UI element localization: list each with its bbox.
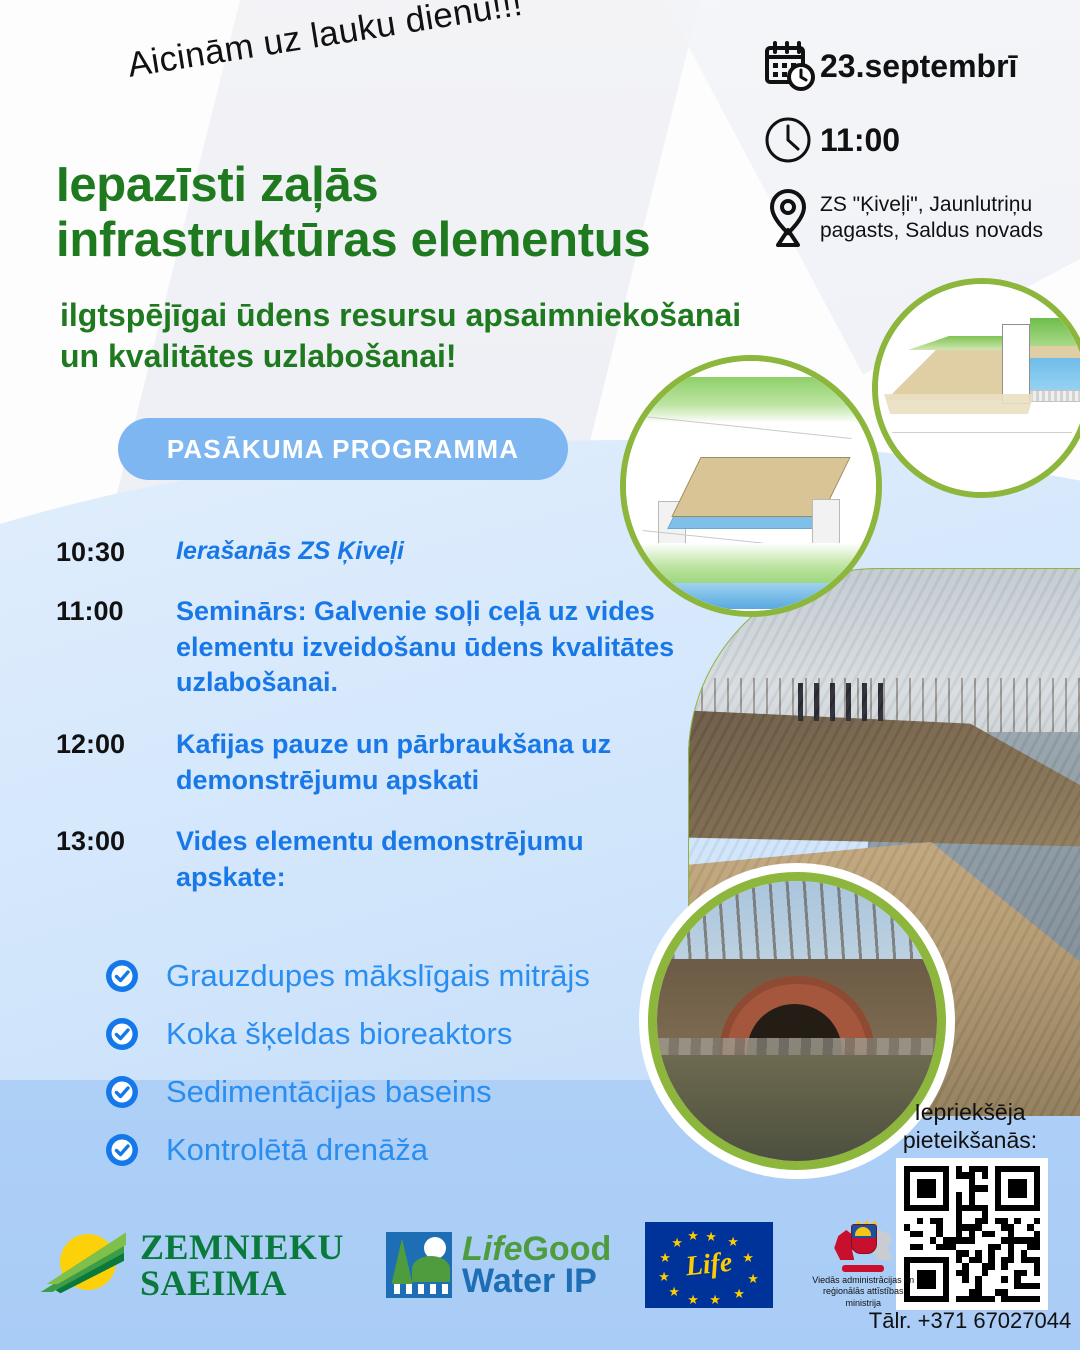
eu-star: ★ (687, 1229, 699, 1242)
ministry-line2: reģionālās attīstības (823, 1286, 904, 1296)
programme-text: Ierašanās ZS Ķiveļi (176, 535, 676, 568)
list-item-label: Grauzdupes mākslīgais mitrājs (166, 959, 590, 993)
crest-base (842, 1265, 884, 1272)
eu-star: ★ (705, 1230, 717, 1243)
page-subtitle-line2: un kvalitātes uzlabošanai! (60, 338, 457, 374)
eu-star: ★ (747, 1272, 759, 1285)
illustration-base-layer (884, 394, 1034, 414)
logo-life-good-water-ip: LifeGood Water IP (386, 1232, 611, 1298)
illustration-cross-section (872, 278, 1080, 498)
latvia-coat-of-arms-icon: ★★★ (834, 1222, 892, 1272)
page-title-line2: infrastruktūras elementus (56, 213, 776, 268)
page-subtitle-line1: ilgtspējīgai ūdens resursu apsaimniekoša… (60, 297, 741, 333)
life-wordmark: LifeGood Water IP (462, 1233, 611, 1298)
eu-life-wordmark: Life (684, 1247, 734, 1284)
footer-logos: ZEMNIEKU SAEIMA LifeGood Water IP ★ ★ (30, 1222, 931, 1309)
programme-time: 12:00 (56, 727, 176, 798)
list-item-label: Koka šķeldas bioreaktors (166, 1017, 512, 1051)
programme-text: Vides elementu demonstrējumu apskate: (176, 824, 676, 895)
programme-row: 12:00 Kafijas pauze un pārbraukšana uz d… (56, 727, 696, 798)
event-location-line2: pagasts, Saldus novads (820, 219, 1043, 242)
illustration-control-structure (1002, 324, 1030, 404)
demo-bullet-list: Grauzdupes mākslīgais mitrājs Koka šķeld… (104, 958, 704, 1190)
event-location-line1: ZS "Ķiveļi", Jaunlutriņu (820, 193, 1032, 216)
logo-ministry: ★★★ Viedās administrācijas un reģionālās… (795, 1222, 931, 1309)
check-circle-icon (104, 1074, 140, 1110)
meta-time-row: 11:00 (760, 114, 1080, 166)
check-circle-icon (104, 958, 140, 994)
programme-row: 13:00 Vides elementu demonstrējumu apska… (56, 824, 696, 895)
zemnieku-line2: SAEIMA (140, 1265, 344, 1302)
programme-cta-button[interactable]: PASĀKUMA PROGRAMMA (118, 418, 568, 480)
event-date: 23.septembrī (820, 48, 1017, 85)
registration-label: Iepriekšēja pieteikšanās: (880, 1098, 1060, 1154)
life-wordmark-line1: LifeGood (462, 1233, 611, 1266)
eu-star: ★ (742, 1251, 754, 1264)
illustration-bioreactor (620, 355, 882, 617)
ministry-line3: ministrija (845, 1298, 881, 1308)
check-circle-icon (104, 1016, 140, 1052)
programme-time: 11:00 (56, 594, 176, 701)
page-title: Iepazīsti zaļās infrastruktūras elementu… (56, 158, 776, 268)
hill-shape (412, 1256, 450, 1282)
eu-star: ★ (659, 1251, 671, 1264)
illustration-gravel-bed (1026, 390, 1080, 402)
list-item: Kontrolētā drenāža (104, 1132, 704, 1168)
meta-date-row: 23.septembrī (760, 40, 1080, 92)
illustration-grass-top (626, 377, 876, 423)
eu-star: ★ (658, 1270, 670, 1283)
logo-zemnieku-saeima: ZEMNIEKU SAEIMA (30, 1226, 344, 1304)
zemnieku-saeima-mark-icon (30, 1226, 126, 1304)
contact-phone: Tālr. +371 67027044 (860, 1308, 1080, 1334)
programme-text: Kafijas pauze un pārbraukšana uz demonst… (176, 727, 676, 798)
registration-label-line1: Iepriekšēja (914, 1099, 1025, 1125)
check-circle-icon (104, 1132, 140, 1168)
page-title-line1: Iepazīsti zaļās (56, 158, 378, 212)
list-item: Grauzdupes mākslīgais mitrājs (104, 958, 704, 994)
programme-time: 13:00 (56, 824, 176, 895)
eu-star: ★ (687, 1293, 699, 1306)
programme-row: 10:30 Ierašanās ZS Ķiveļi (56, 535, 696, 568)
registration-label-line2: pieteikšanās: (903, 1127, 1037, 1153)
illustration-channel-water (626, 583, 876, 609)
list-item-label: Sedimentācijas baseins (166, 1075, 492, 1109)
eu-star: ★ (709, 1293, 721, 1306)
clock-icon (760, 114, 820, 166)
list-item: Koka šķeldas bioreaktors (104, 1016, 704, 1052)
event-location: ZS "Ķiveļi", Jaunlutriņu pagasts, Saldus… (820, 188, 1043, 243)
programme-row: 11:00 Seminārs: Galvenie soļi ceļā uz vi… (56, 594, 696, 701)
zemnieku-line1: ZEMNIEKU (140, 1229, 344, 1266)
wave-shape (388, 1284, 450, 1294)
programme-time: 10:30 (56, 535, 176, 568)
illustration-horizon-line (892, 432, 1072, 433)
programme-text: Seminārs: Galvenie soļi ceļā uz vides el… (176, 594, 676, 701)
tree-shape (390, 1238, 414, 1290)
eu-star: ★ (668, 1285, 680, 1298)
zemnieku-saeima-wordmark: ZEMNIEKU SAEIMA (140, 1229, 344, 1302)
calendar-clock-icon (760, 40, 820, 92)
illustration-reeds (1030, 318, 1076, 346)
ministry-name: Viedās administrācijas un reģionālās att… (795, 1275, 931, 1309)
eu-star: ★ (733, 1287, 745, 1300)
illustration-water-body (1026, 358, 1080, 394)
life-wordmark-line2: Water IP (462, 1265, 611, 1298)
event-meta: 23.septembrī 11:00 ZS "Ķiveļi", Jaunlu (760, 40, 1080, 264)
map-pin-icon (760, 188, 820, 248)
programme-list: 10:30 Ierašanās ZS Ķiveļi 11:00 Seminārs… (56, 535, 696, 921)
life-project-mark-icon (386, 1232, 452, 1298)
list-item-label: Kontrolētā drenāža (166, 1133, 428, 1167)
list-item: Sedimentācijas baseins (104, 1074, 704, 1110)
ministry-line1: Viedās administrācijas un (812, 1275, 914, 1285)
meta-location-row: ZS "Ķiveļi", Jaunlutriņu pagasts, Saldus… (760, 188, 1080, 248)
logo-eu-life: ★ ★ ★ ★ ★ ★ ★ ★ ★ ★ ★ ★ Life (645, 1222, 773, 1308)
event-time: 11:00 (820, 122, 900, 159)
poster-root: Aicinām uz lauku dienu!!! Iepazīsti zaļā… (0, 0, 1080, 1350)
eu-star: ★ (671, 1236, 683, 1249)
